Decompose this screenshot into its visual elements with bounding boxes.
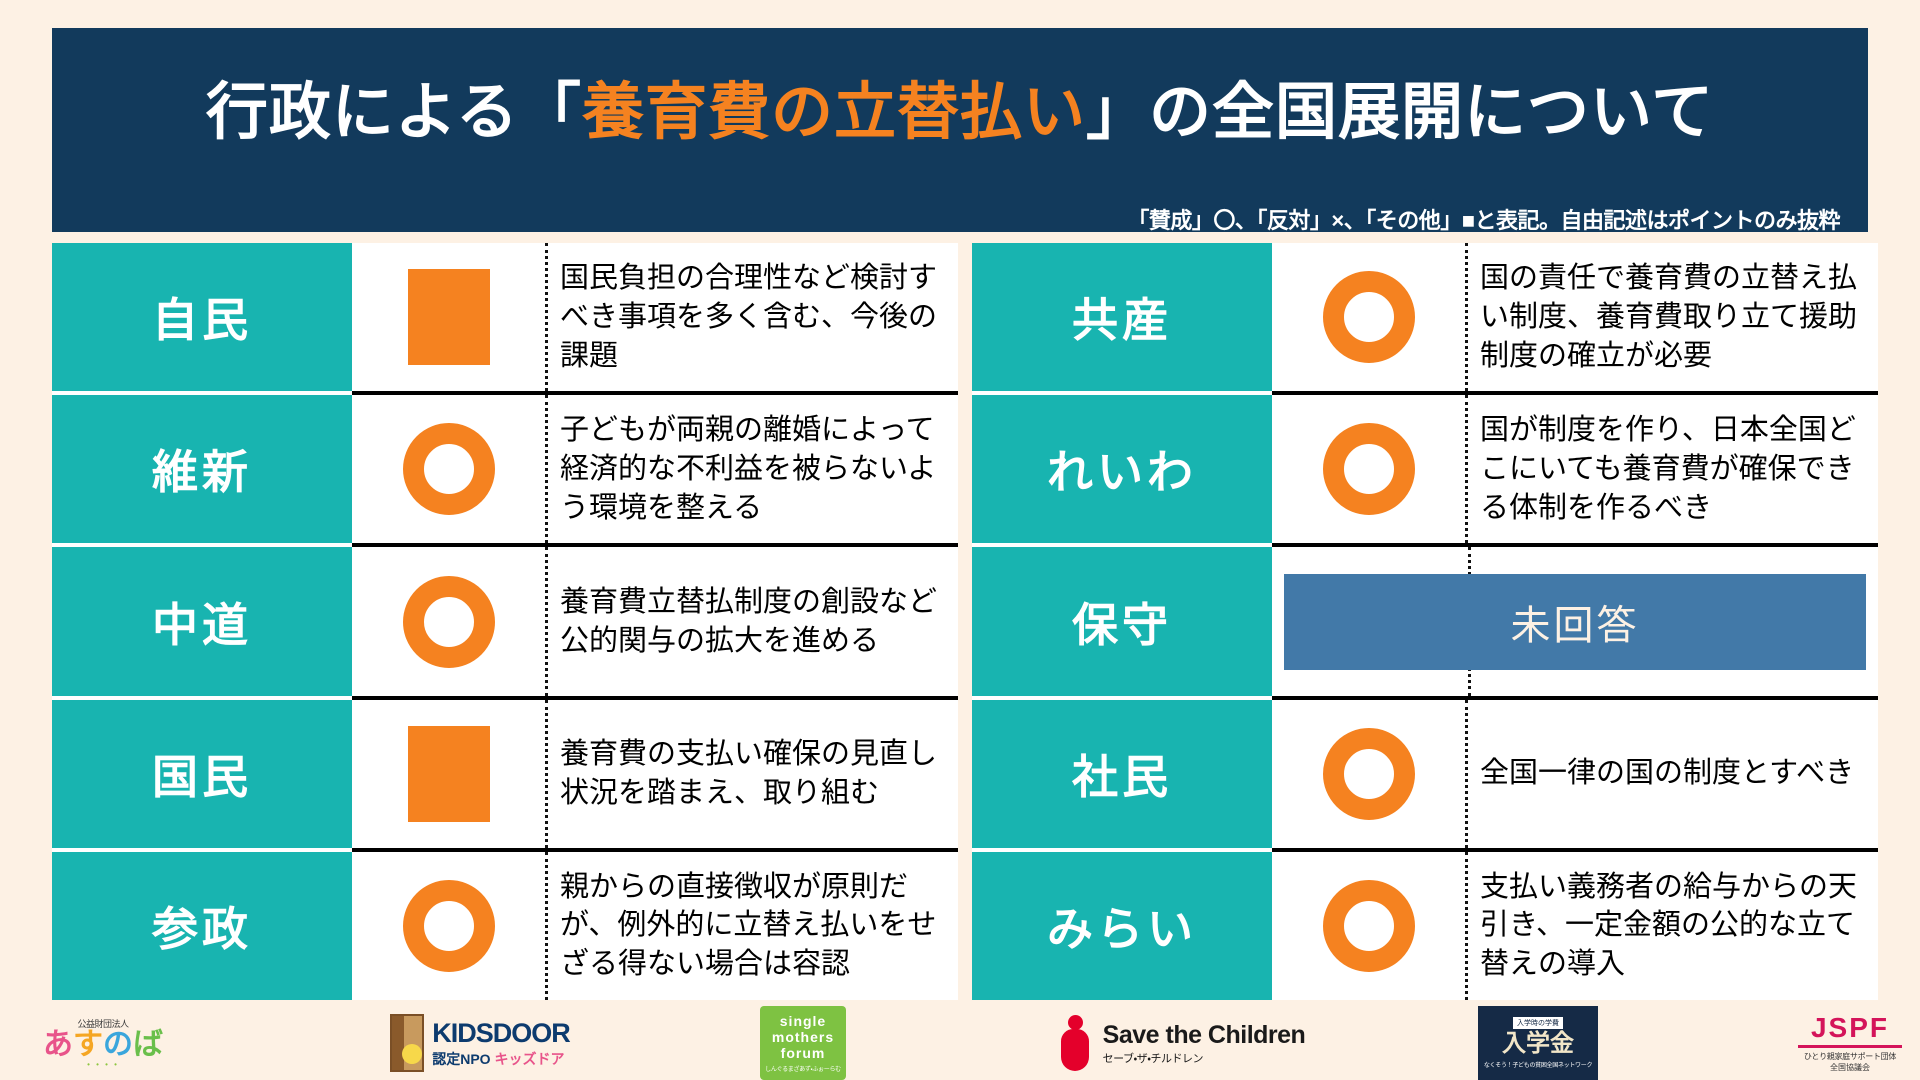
- child-figure-icon: [1055, 1015, 1095, 1071]
- party-name-cell: 中道: [52, 547, 352, 699]
- circle-icon: [1323, 423, 1415, 515]
- comment-text: 親からの直接徴収が原則だが、例外的に立替え払いをせざる得ない場合は容認: [560, 868, 952, 985]
- table-row: みらい 支払い義務者の給与からの天引き、一定金額の公的な立て替えの導入: [972, 852, 1878, 1000]
- smf-line1: single: [780, 1013, 826, 1029]
- asunoba-dots: • • • •: [87, 1060, 119, 1069]
- table-row: 国民 養育費の支払い確保の見直し状況を踏まえ、取り組む: [52, 700, 958, 852]
- stc-wordmark: Save the Children: [1103, 1021, 1306, 1050]
- smiley-icon: [402, 1044, 422, 1064]
- comment-text: 養育費の支払い確保の見直し状況を踏まえ、取り組む: [560, 735, 952, 813]
- stance-symbol-cell: [1272, 395, 1468, 543]
- square-icon: [408, 269, 490, 365]
- comment-cell: 養育費の支払い確保の見直し状況を踏まえ、取り組む: [548, 700, 958, 848]
- unanswered-cell: 未回答: [1272, 547, 1878, 695]
- comment-text: 全国一律の国の制度とすべき: [1480, 754, 1854, 793]
- title-highlight: 養育費の立替払い: [582, 78, 1086, 147]
- jspf-subtitle: ひとり親家庭サポート団体: [1804, 1051, 1896, 1062]
- square-icon: [408, 726, 490, 822]
- party-table-right: 共産 国の責任で養育費の立替え払い制度、養育費取り立て援助制度の確立が必要 れい…: [972, 243, 1878, 1000]
- table-row: 社民 全国一律の国の制度とすべき: [972, 700, 1878, 852]
- table-row: 保守 未回答: [972, 547, 1878, 699]
- page-title: 行政による「養育費の立替払い」の全国展開について: [52, 80, 1868, 145]
- stance-symbol-cell: [352, 243, 548, 391]
- logo-jspf: JSPF ひとり親家庭サポート団体 全国協議会: [1790, 1008, 1910, 1078]
- comment-text: 国が制度を作り、日本全国どこにいても養育費が確保できる体制を作るべき: [1480, 411, 1872, 528]
- party-name-cell: みらい: [972, 852, 1272, 1000]
- logo-nyugakukin: 入学時の学費 入学金 なくそう！子どもの貧困全国ネットワーク: [1478, 1006, 1598, 1080]
- kidsdoor-kana: キッズドア: [494, 1051, 564, 1067]
- table-row: れいわ 国が制度を作り、日本全国どこにいても養育費が確保できる体制を作るべき: [972, 395, 1878, 547]
- party-name-cell: 保守: [972, 547, 1272, 699]
- party-name-cell: 国民: [52, 700, 352, 852]
- party-name-cell: れいわ: [972, 395, 1272, 547]
- legend-note: 「賛成」〇、「反対」×、「その他」■と表記。自由記述はポイントのみ抜粋: [52, 203, 1868, 235]
- jspf-subtitle2: 全国協議会: [1830, 1062, 1870, 1073]
- smf-tagline: しんぐるまざあず・ふぉーらむ: [765, 1064, 841, 1073]
- logo-asunoba: 公益財団法人 あすのば • • • •: [18, 1008, 188, 1078]
- comment-text: 支払い義務者の給与からの天引き、一定金額の公的な立て替えの導入: [1480, 868, 1872, 985]
- title-prefix: 行政による「: [206, 78, 582, 147]
- circle-icon: [1323, 728, 1415, 820]
- circle-icon: [403, 576, 495, 668]
- status-badge: 未回答: [1284, 574, 1866, 670]
- jspf-divider: [1798, 1045, 1902, 1048]
- logo-save-the-children: Save the Children セーブ・ザ・チルドレン: [1030, 1008, 1330, 1078]
- logo-kidsdoor: KIDSDOOR 認定NPO キッズドア: [355, 1008, 605, 1078]
- jspf-wordmark: JSPF: [1811, 1014, 1889, 1042]
- comment-text: 国民負担の合理性など検討すべき事項を多く含む、今後の課題: [560, 259, 952, 376]
- smf-line3: forum: [781, 1045, 826, 1061]
- stance-symbol-cell: [352, 395, 548, 543]
- party-table-left: 自民 国民負担の合理性など検討すべき事項を多く含む、今後の課題 維新 子どもが両…: [52, 243, 958, 1000]
- stance-symbol-cell: [1272, 700, 1468, 848]
- door-icon: [390, 1014, 424, 1072]
- party-name-cell: 共産: [972, 243, 1272, 395]
- nyugakukin-top-label: 入学時の学費: [1513, 1017, 1563, 1029]
- table-row: 中道 養育費立替払制度の創設など公的関与の拡大を進める: [52, 547, 958, 699]
- title-suffix: 」の全国展開について: [1086, 78, 1714, 147]
- party-name-cell: 自民: [52, 243, 352, 395]
- kidsdoor-npo-label: 認定NPO: [432, 1051, 494, 1067]
- header-banner: 行政による「養育費の立替払い」の全国展開について 「賛成」〇、「反対」×、「その…: [52, 28, 1868, 232]
- table-row: 共産 国の責任で養育費の立替え払い制度、養育費取り立て援助制度の確立が必要: [972, 243, 1878, 395]
- stance-symbol-cell: [352, 852, 548, 1000]
- kidsdoor-subtitle: 認定NPO キッズドア: [432, 1049, 570, 1069]
- comment-cell: 国が制度を作り、日本全国どこにいても養育費が確保できる体制を作るべき: [1468, 395, 1878, 543]
- logo-single-mothers-forum: single mothers forum しんぐるまざあず・ふぉーらむ: [760, 1006, 846, 1080]
- table-row: 自民 国民負担の合理性など検討すべき事項を多く含む、今後の課題: [52, 243, 958, 395]
- party-name-cell: 維新: [52, 395, 352, 547]
- asunoba-wordmark: あすのば: [43, 1030, 163, 1060]
- comment-cell: 全国一律の国の制度とすべき: [1468, 700, 1878, 848]
- comment-text: 子どもが両親の離婚によって経済的な不利益を被らないよう環境を整える: [560, 411, 952, 528]
- circle-icon: [403, 423, 495, 515]
- stance-symbol-cell: [1272, 852, 1468, 1000]
- comment-text: 養育費立替払制度の創設など公的関与の拡大を進める: [560, 583, 952, 661]
- circle-icon: [1323, 880, 1415, 972]
- comment-cell: 国の責任で養育費の立替え払い制度、養育費取り立て援助制度の確立が必要: [1468, 243, 1878, 391]
- smf-line2: mothers: [772, 1029, 834, 1045]
- stc-subtitle: セーブ・ザ・チルドレン: [1103, 1050, 1306, 1066]
- comment-text: 国の責任で養育費の立替え払い制度、養育費取り立て援助制度の確立が必要: [1480, 259, 1872, 376]
- nyugakukin-subtitle: なくそう！子どもの貧困全国ネットワーク: [1484, 1060, 1592, 1069]
- comment-cell: 支払い義務者の給与からの天引き、一定金額の公的な立て替えの導入: [1468, 852, 1878, 1000]
- party-name-cell: 参政: [52, 852, 352, 1000]
- party-name-cell: 社民: [972, 700, 1272, 852]
- circle-icon: [1323, 271, 1415, 363]
- kidsdoor-wordmark: KIDSDOOR: [432, 1018, 570, 1049]
- kidsdoor-text: KIDSDOOR 認定NPO キッズドア: [432, 1018, 570, 1069]
- table-row: 参政 親からの直接徴収が原則だが、例外的に立替え払いをせざる得ない場合は容認: [52, 852, 958, 1000]
- stance-symbol-cell: [352, 547, 548, 695]
- comment-cell: 養育費立替払制度の創設など公的関与の拡大を進める: [548, 547, 958, 695]
- comment-cell: 親からの直接徴収が原則だが、例外的に立替え払いをせざる得ない場合は容認: [548, 852, 958, 1000]
- stc-text: Save the Children セーブ・ザ・チルドレン: [1103, 1021, 1306, 1066]
- party-response-tables: 自民 国民負担の合理性など検討すべき事項を多く含む、今後の課題 維新 子どもが両…: [52, 243, 1878, 1000]
- footer-logo-strip: 公益財団法人 あすのば • • • • KIDSDOOR 認定NPO キッズドア…: [0, 1006, 1920, 1080]
- nyugakukin-wordmark: 入学金: [1502, 1031, 1574, 1057]
- stance-symbol-cell: [352, 700, 548, 848]
- stance-symbol-cell: [1272, 243, 1468, 391]
- comment-cell: 子どもが両親の離婚によって経済的な不利益を被らないよう環境を整える: [548, 395, 958, 543]
- table-row: 維新 子どもが両親の離婚によって経済的な不利益を被らないよう環境を整える: [52, 395, 958, 547]
- circle-icon: [403, 880, 495, 972]
- comment-cell: 国民負担の合理性など検討すべき事項を多く含む、今後の課題: [548, 243, 958, 391]
